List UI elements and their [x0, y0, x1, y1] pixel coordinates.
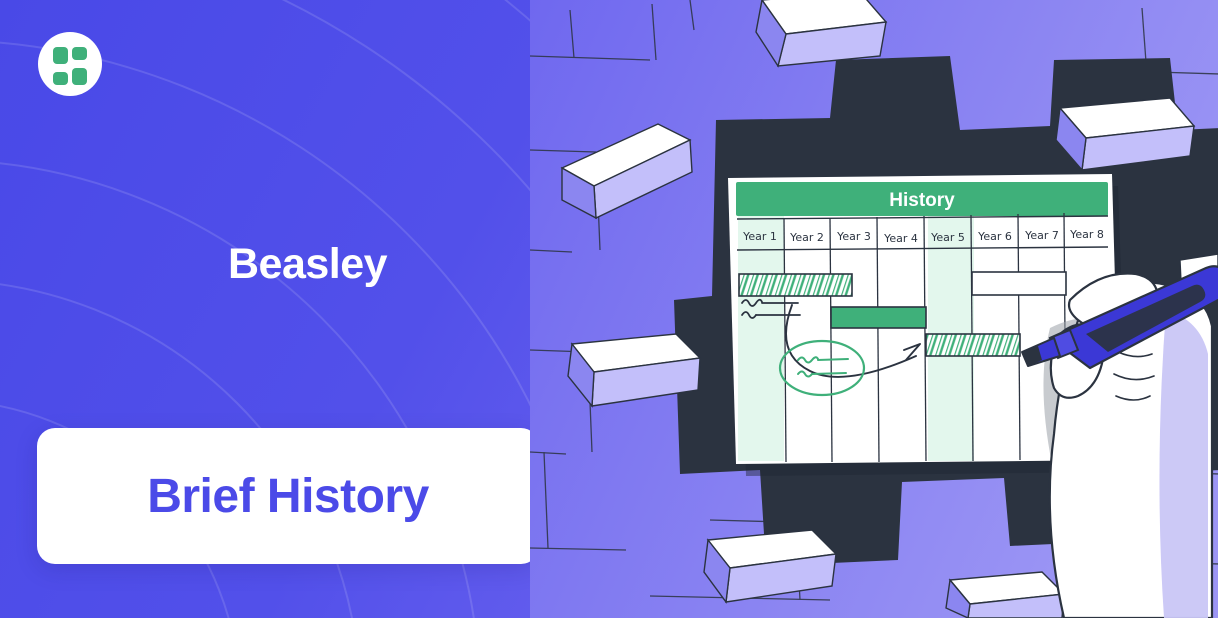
title-card: Brief History — [37, 428, 539, 564]
logo-tile-top-left — [53, 47, 68, 64]
year-label-4: Year 4 — [883, 232, 918, 245]
illustration-hand-breaking-wall: History — [530, 0, 1218, 618]
year-label-7: Year 7 — [1024, 229, 1059, 242]
logo-tile-grid — [53, 47, 87, 81]
beasley-logo — [38, 32, 102, 96]
chart-title: History — [889, 190, 955, 211]
gantt-bar-phase-4 — [926, 334, 1020, 356]
logo-tile-bottom-left — [53, 72, 68, 85]
brand-name: Beasley — [228, 240, 387, 289]
slide-root: Beasley Brief History — [0, 0, 1218, 618]
year-label-5: Year 5 — [930, 231, 965, 244]
hand-shading — [1159, 310, 1208, 618]
year-label-3: Year 3 — [836, 230, 871, 243]
year-label-1: Year 1 — [742, 230, 777, 243]
page-title: Brief History — [147, 469, 429, 524]
gantt-bar-phase-3 — [972, 272, 1066, 295]
logo-tile-bottom-right — [72, 68, 87, 85]
flying-brick-top-center — [756, 0, 886, 66]
year-label-8: Year 8 — [1069, 228, 1104, 241]
year-label-2: Year 2 — [789, 231, 824, 244]
gantt-bar-phase-1 — [739, 274, 852, 296]
year-label-6: Year 6 — [977, 230, 1012, 243]
flying-brick-bottom-right — [946, 572, 1064, 618]
logo-tile-top-right — [72, 47, 87, 60]
gantt-bar-phase-2 — [831, 307, 926, 328]
